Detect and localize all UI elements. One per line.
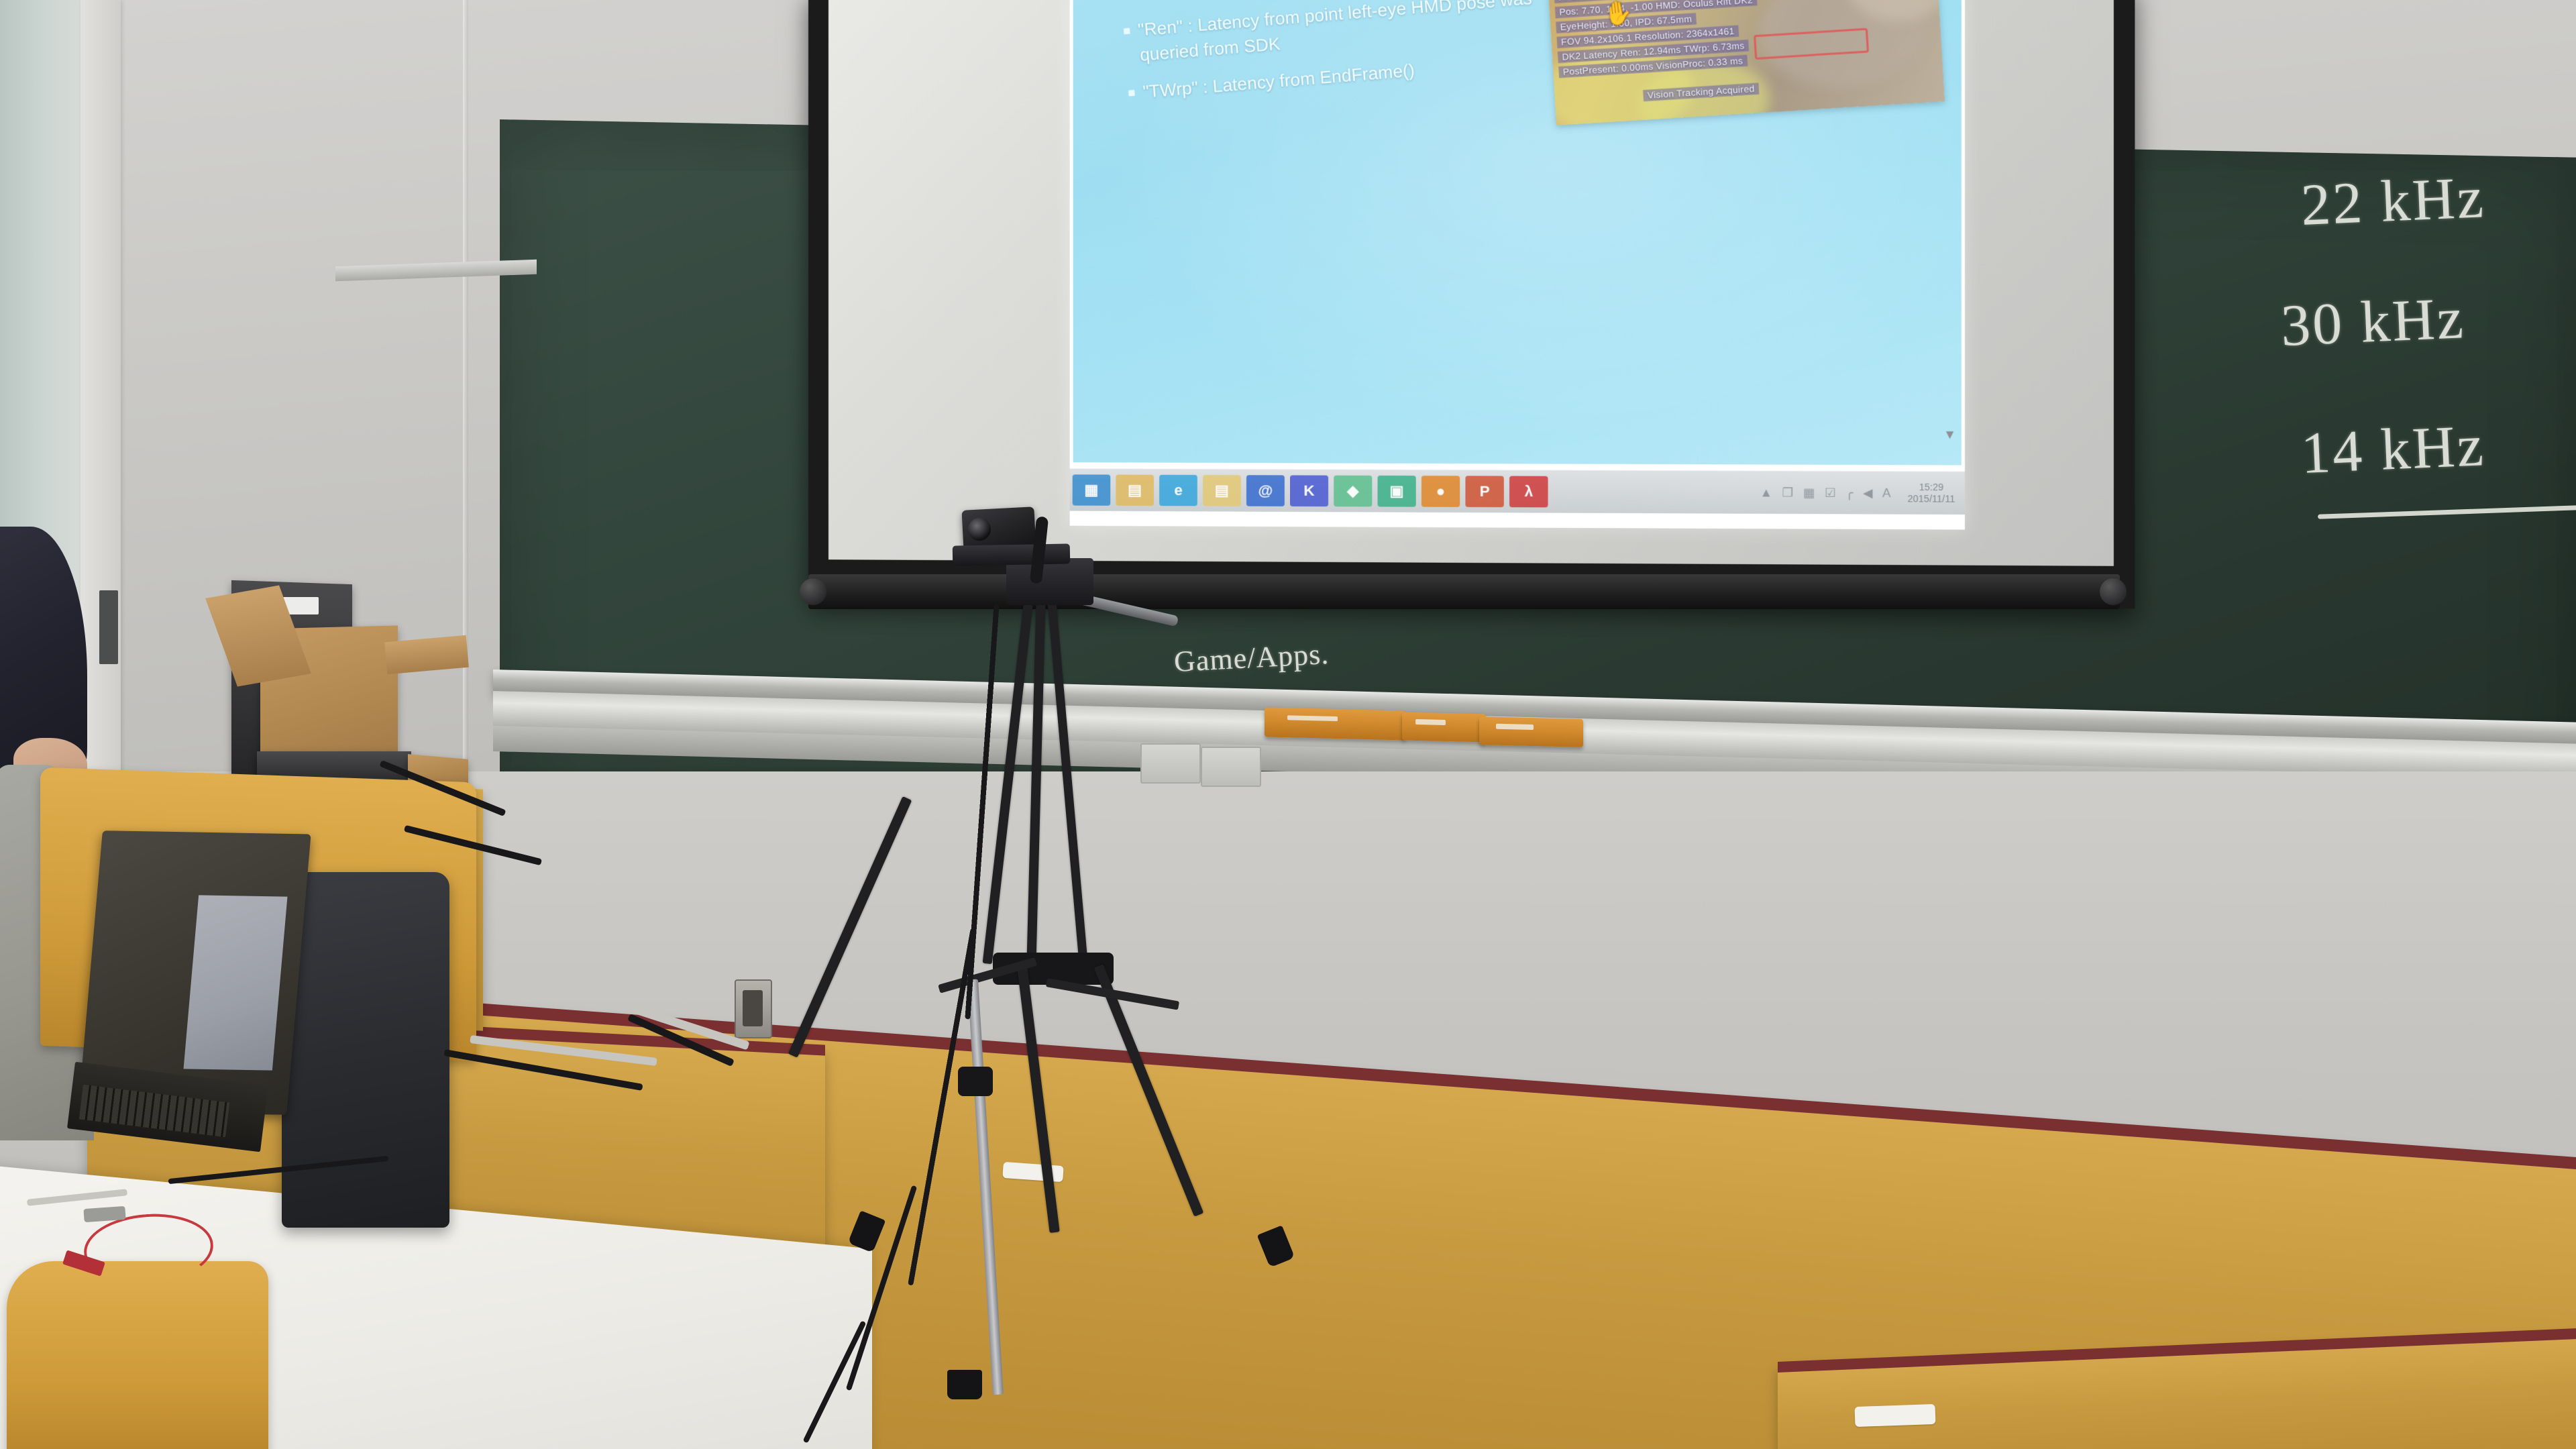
projected-desktop: "Ren" : Latency from point left-eye HMD … (1070, 0, 1965, 530)
taskbar-clock[interactable]: 15:29 2015/11/11 (1898, 482, 1965, 504)
app-green-icon[interactable]: ◆ (1334, 476, 1372, 507)
presentation-slide: "Ren" : Latency from point left-eye HMD … (1073, 0, 1962, 465)
tripod-center-foot (947, 1370, 982, 1399)
wall-power-outlet[interactable] (735, 979, 772, 1038)
chalk-note-2: 30 kHz (2279, 284, 2467, 360)
projection-screen-surface: "Ren" : Latency from point left-eye HMD … (828, 0, 2114, 566)
lecture-room-photo: 22 kHz 30 kHz 14 kHz Game/Apps. (0, 0, 2576, 1449)
network-icon[interactable]: ╭ (1845, 486, 1853, 500)
tripod-column-lock[interactable] (958, 1067, 993, 1096)
vr-screenshot-image: HMD YPR: 74 1 2 Player Yaw: 62 FPS: 75 0… (1547, 0, 1945, 125)
mail-icon[interactable]: @ (1246, 475, 1285, 506)
chalk-note-1: 22 kHz (2300, 164, 2487, 239)
wall-switch-plate[interactable] (1201, 747, 1261, 787)
chalk-box[interactable] (1265, 707, 1405, 740)
ime-language-icon[interactable]: A (1882, 486, 1891, 500)
display-icon[interactable]: ❐ (1782, 486, 1793, 500)
desk-sticker-label (1855, 1404, 1936, 1427)
chalk-box[interactable] (1479, 716, 1583, 747)
clock-time: 15:29 (1919, 482, 1944, 493)
kmplayer-icon[interactable]: K (1290, 475, 1328, 506)
camera-lens-icon (968, 518, 991, 541)
chalk-note-3: 14 kHz (2300, 412, 2487, 488)
windows-defender-icon[interactable]: ▦ (1803, 486, 1815, 500)
chalk-box-label (1287, 715, 1338, 722)
firefox-icon[interactable]: ● (1421, 476, 1460, 507)
volume-icon[interactable]: ◀ (1863, 486, 1872, 500)
chalk-box[interactable] (1402, 712, 1486, 742)
screen-case-end-cap (2100, 578, 2127, 605)
acrobat-reader-icon[interactable]: λ (1509, 476, 1548, 508)
black-office-chair (282, 872, 449, 1228)
powerpoint-icon[interactable]: P (1465, 476, 1503, 507)
bullet-dot-icon (1128, 90, 1135, 97)
windows-taskbar[interactable]: ▦ ▤ e ▤ @ K ◆ ▣ ● P λ ▲ ❐ ▦ (1070, 468, 1965, 515)
system-tray[interactable]: ▲ ❐ ▦ ☑ ╭ ◀ A (1760, 486, 1897, 500)
taskbar-spacer (1551, 492, 1760, 492)
hand-cursor-icon: ✋ (1602, 0, 1635, 29)
bullet-dot-icon (1124, 28, 1130, 35)
screen-case-end-cap (800, 578, 826, 605)
chevron-down-icon[interactable]: ▾ (1946, 427, 1954, 442)
outlet-socket (743, 990, 763, 1026)
door-handle (99, 590, 118, 664)
projection-screen-case (808, 574, 2120, 609)
chalk-box-label (1496, 724, 1534, 730)
tripod-head[interactable] (1006, 558, 1093, 605)
action-center-icon[interactable]: ☑ (1825, 486, 1836, 500)
clock-date: 2015/11/11 (1907, 493, 1955, 504)
internet-explorer-icon[interactable]: e (1159, 475, 1197, 506)
slide-bullet-text: "TWrp" : Latency from EndFrame() (1142, 58, 1415, 105)
yellow-chair-back (7, 1261, 268, 1449)
file-explorer-icon[interactable]: ▤ (1116, 475, 1154, 506)
folder-icon[interactable]: ▤ (1203, 475, 1241, 506)
camera-mount-plate (953, 543, 1070, 566)
excel-icon[interactable]: ▣ (1378, 476, 1416, 507)
wall-switch-plate[interactable] (1140, 743, 1201, 784)
chalk-box-label (1415, 719, 1446, 725)
laptop-screen[interactable] (184, 895, 288, 1070)
show-hidden-icons-icon[interactable]: ▲ (1760, 486, 1772, 500)
windows-start-icon[interactable]: ▦ (1073, 474, 1111, 505)
slide-bullet-list: "Ren" : Latency from point left-eye HMD … (1123, 0, 1567, 117)
